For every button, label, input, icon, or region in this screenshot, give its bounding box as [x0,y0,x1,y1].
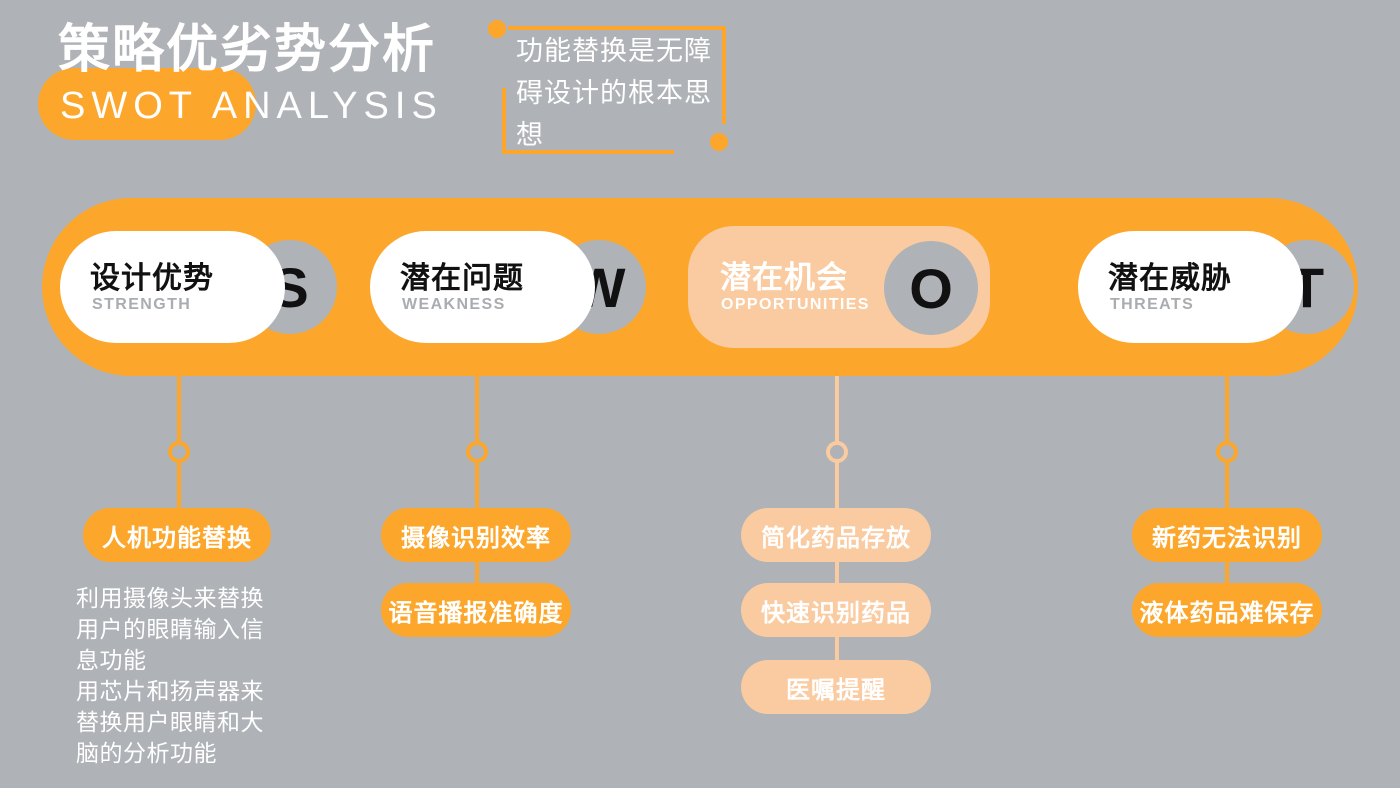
swot-card-threats[interactable]: 潜在威胁 THREATS [1078,231,1303,343]
bracket-bottom-vertical [502,88,506,154]
swot-card-weakness[interactable]: 潜在问题 WEAKNESS [370,231,595,343]
swot-card-title-cn-weakness: 潜在问题 [400,253,524,297]
description-line-2: 息功能 [76,645,326,676]
page-title-en: SWOT ANALYSIS [60,85,443,128]
swot-card-title-cn-threats: 潜在威胁 [1108,253,1232,297]
swot-card-title-en-weakness: WEAKNESS [402,296,506,314]
swot-card-title-cn-strength: 设计优势 [90,253,214,297]
swot-card-title-cn-opportunities: 潜在机会 [720,252,848,297]
swot-card-title-en-opportunities: OPPORTUNITIES [721,296,870,314]
header-note: 功能替换是无障碍设计的根本思想 [488,8,748,168]
description-line-1: 用户的眼睛输入信 [76,614,326,645]
branch-pill-s-0[interactable]: 人机功能替换 [83,508,271,562]
description-line-3: 用芯片和扬声器来 [76,676,326,707]
decorative-dot-top-left-icon [488,20,506,38]
page-title-cn: 策略优劣势分析 [58,22,436,79]
connector-node-o [826,441,848,463]
branch-pill-w-1[interactable]: 语音播报准确度 [381,583,571,637]
swot-letter-badge-o: O [884,241,978,335]
branch-pill-o-1[interactable]: 快速识别药品 [741,583,931,637]
description-line-5: 脑的分析功能 [76,738,326,769]
swot-card-title-en-threats: THREATS [1110,296,1194,314]
swot-card-title-en-strength: STRENGTH [92,296,191,314]
branch-pill-o-2[interactable]: 医嘱提醒 [741,660,931,714]
connector-node-s [168,441,190,463]
strength-description: 利用摄像头来替换 用户的眼睛输入信 息功能 用芯片和扬声器来 替换用户眼睛和大 … [76,583,326,769]
connector-line-t [1225,376,1229,616]
description-line-0: 利用摄像头来替换 [76,583,326,614]
branch-pill-w-0[interactable]: 摄像识别效率 [381,508,571,562]
connector-line-w [475,376,479,616]
swot-letter-o: O [909,256,953,321]
branch-pill-t-0[interactable]: 新药无法识别 [1132,508,1322,562]
connector-node-t [1216,441,1238,463]
branch-pill-t-1[interactable]: 液体药品难保存 [1132,583,1322,637]
connector-node-w [466,441,488,463]
swot-card-strength[interactable]: 设计优势 STRENGTH [60,231,285,343]
description-line-4: 替换用户眼睛和大 [76,707,326,738]
header-note-text: 功能替换是无障碍设计的根本思想 [516,30,728,156]
branch-pill-o-0[interactable]: 简化药品存放 [741,508,931,562]
